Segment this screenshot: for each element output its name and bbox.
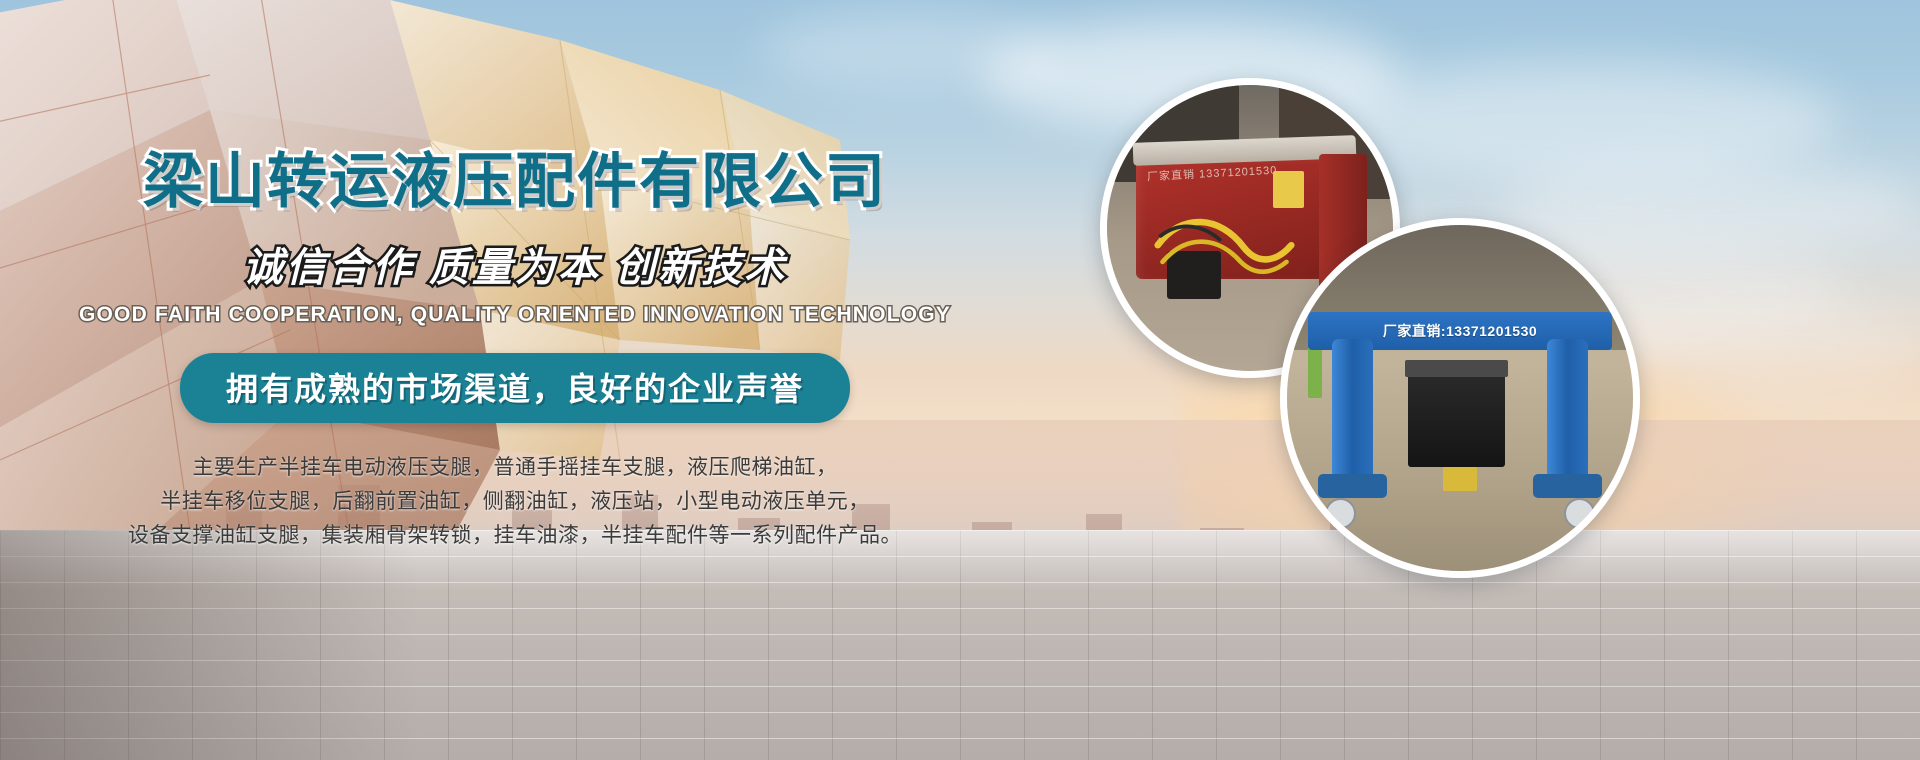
slogan-english: GOOD FAITH COOPERATION, QUALITY ORIENTED…	[0, 303, 1030, 327]
description-line-3: 设备支撑油缸支腿，集装厢骨架转锁，挂车油漆，半挂车配件等一系列配件产品。	[0, 519, 1030, 553]
green-part	[1308, 343, 1322, 398]
description-line-1: 主要生产半挂车电动液压支腿，普通手摇挂车支腿，液压爬梯油缸，	[0, 451, 1030, 485]
banner-text-block: 梁山转运液压配件有限公司 诚信合作 质量为本 创新技术 GOOD FAITH C…	[0, 150, 1030, 553]
highlight-pill-wrap: 拥有成熟的市场渠道，良好的企业声誉	[0, 353, 1030, 423]
blue-photo-inner: 厂家直销:13371201530	[1287, 225, 1633, 571]
slogan-chinese: 诚信合作 质量为本 创新技术	[0, 235, 1030, 293]
yellow-warning-label	[1273, 171, 1304, 208]
blue-hydraulic-support-leg-photo: 厂家直销:13371201530	[1280, 218, 1640, 578]
blue-machine-yellow-tag	[1443, 467, 1478, 491]
blue-foot-plate-left	[1318, 474, 1387, 498]
blue-foot-plate-right	[1533, 474, 1602, 498]
blue-machine-control-box	[1408, 370, 1505, 467]
promo-banner: 梁山转运液压配件有限公司 诚信合作 质量为本 创新技术 GOOD FAITH C…	[0, 0, 1920, 760]
blue-support-leg-left	[1332, 339, 1374, 484]
plaza-left-shadow	[0, 530, 420, 760]
description-line-2: 半挂车移位支腿，后翻前置油缸，侧翻油缸，液压站，小型电动液压单元，	[0, 485, 1030, 519]
product-description: 主要生产半挂车电动液压支腿，普通手摇挂车支腿，液压爬梯油缸， 半挂车移位支腿，后…	[0, 451, 1030, 553]
page-title: 梁山转运液压配件有限公司	[0, 150, 1030, 213]
blue-machine-box-top	[1405, 360, 1509, 377]
highlight-pill: 拥有成熟的市场渠道，良好的企业声誉	[180, 353, 850, 423]
hydraulic-hoses	[1153, 208, 1296, 282]
blue-support-leg-right	[1547, 339, 1589, 484]
